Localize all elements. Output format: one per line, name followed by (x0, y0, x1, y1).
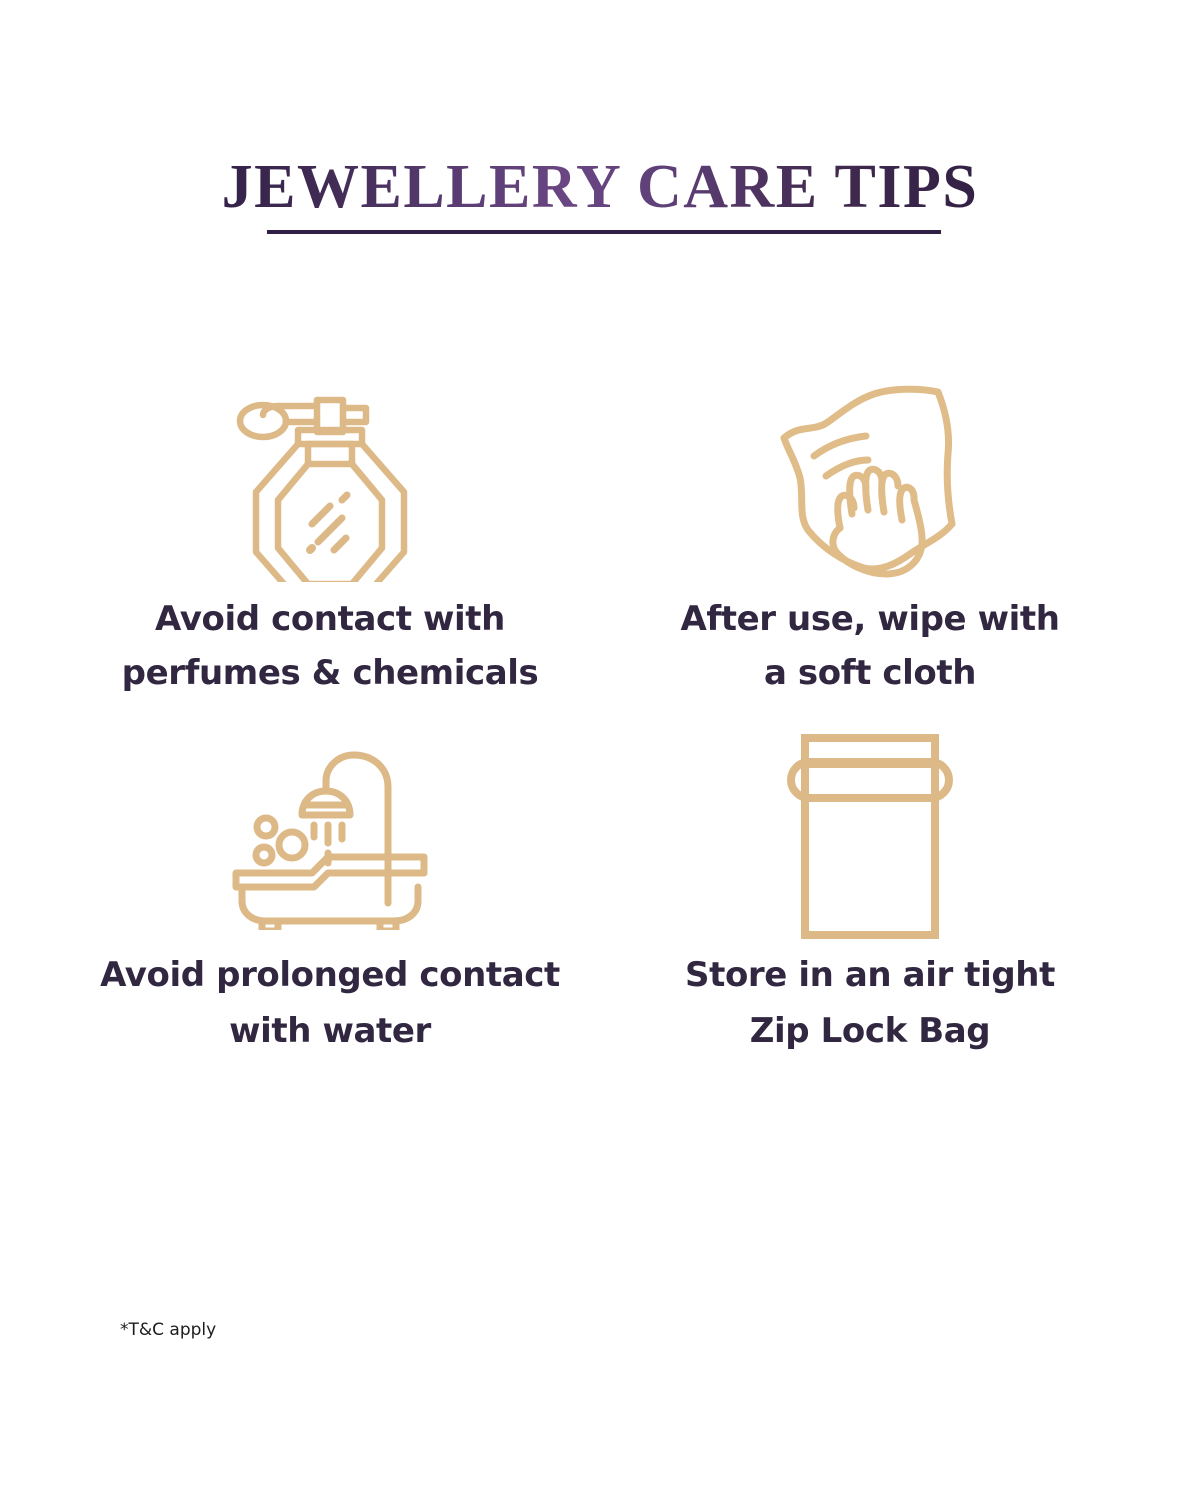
care-tip-caption-line1: Store in an air tight (685, 947, 1055, 1003)
care-tip-caption: Store in an air tight Zip Lock Bag (685, 947, 1055, 1059)
care-tip-caption: Avoid contact with perfumes & chemicals (122, 592, 539, 700)
perfume-bottle-icon (230, 372, 430, 592)
care-tip-item-ziplock: Store in an air tight Zip Lock Bag (600, 727, 1140, 1082)
care-tip-caption-line1: Avoid contact with (122, 592, 539, 646)
care-tip-caption-line2: Zip Lock Bag (685, 1003, 1055, 1059)
care-tip-caption-line2: with water (100, 1003, 560, 1059)
care-tip-caption-line2: a soft cloth (680, 646, 1059, 700)
care-tip-caption-line1: After use, wipe with (680, 592, 1059, 646)
care-tip-item-cloth: After use, wipe with a soft cloth (600, 372, 1140, 727)
cloth-wipe-hand-icon (770, 372, 970, 592)
care-tip-caption-line2: perfumes & chemicals (122, 646, 539, 700)
care-tip-caption: After use, wipe with a soft cloth (680, 592, 1059, 700)
care-tip-item-perfume: Avoid contact with perfumes & chemicals (60, 372, 600, 727)
page-title: JEWELLERY CARE TIPS (222, 152, 979, 222)
care-tip-item-water: Avoid prolonged contact with water (60, 727, 600, 1082)
title-underline-divider (267, 230, 941, 234)
terms-and-conditions-note: *T&C apply (120, 1320, 216, 1340)
care-tip-caption-line1: Avoid prolonged contact (100, 947, 560, 1003)
care-tip-caption: Avoid prolonged contact with water (100, 947, 560, 1059)
zip-lock-bag-icon (783, 727, 958, 947)
page-title-container: JEWELLERY CARE TIPS (0, 152, 1200, 222)
care-tips-grid: Avoid contact with perfumes & chemicals (60, 372, 1140, 1082)
bathtub-shower-icon (228, 727, 433, 947)
